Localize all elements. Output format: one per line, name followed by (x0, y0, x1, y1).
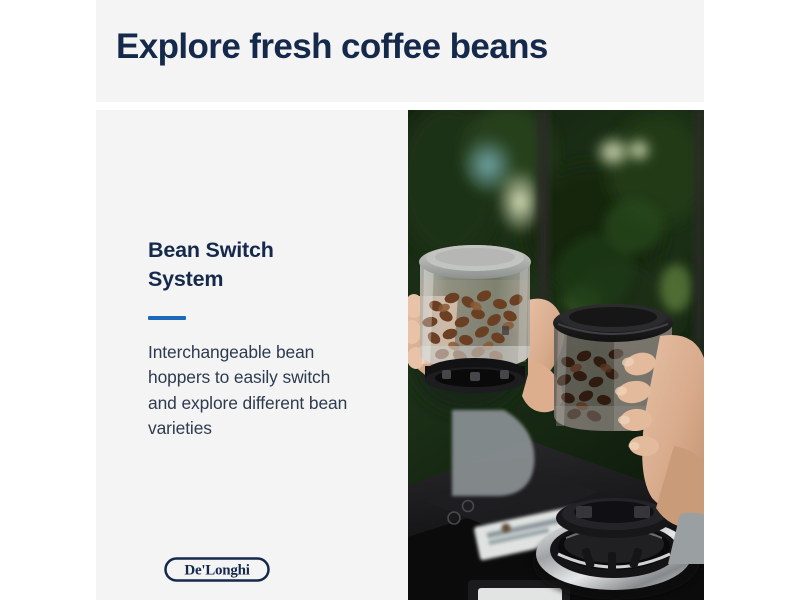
svg-text:De'Longhi: De'Longhi (184, 563, 249, 579)
title-divider (148, 316, 186, 320)
feature-title: Bean Switch System (148, 236, 348, 294)
header-band: Explore fresh coffee beans (96, 0, 704, 102)
product-photo (408, 110, 704, 600)
delonghi-logo: De'Longhi (164, 557, 270, 582)
feature-copy-column: Bean Switch System Interchangeable bean … (148, 110, 398, 600)
page-title: Explore fresh coffee beans (116, 24, 548, 70)
feature-panel: Bean Switch System Interchangeable bean … (96, 110, 704, 600)
promo-page: Explore fresh coffee beans Bean Switch S… (0, 0, 800, 600)
feature-description: Interchangeable bean hoppers to easily s… (148, 340, 360, 442)
delonghi-logo-icon: De'Longhi (164, 557, 270, 582)
product-photo-illustration (408, 110, 704, 600)
